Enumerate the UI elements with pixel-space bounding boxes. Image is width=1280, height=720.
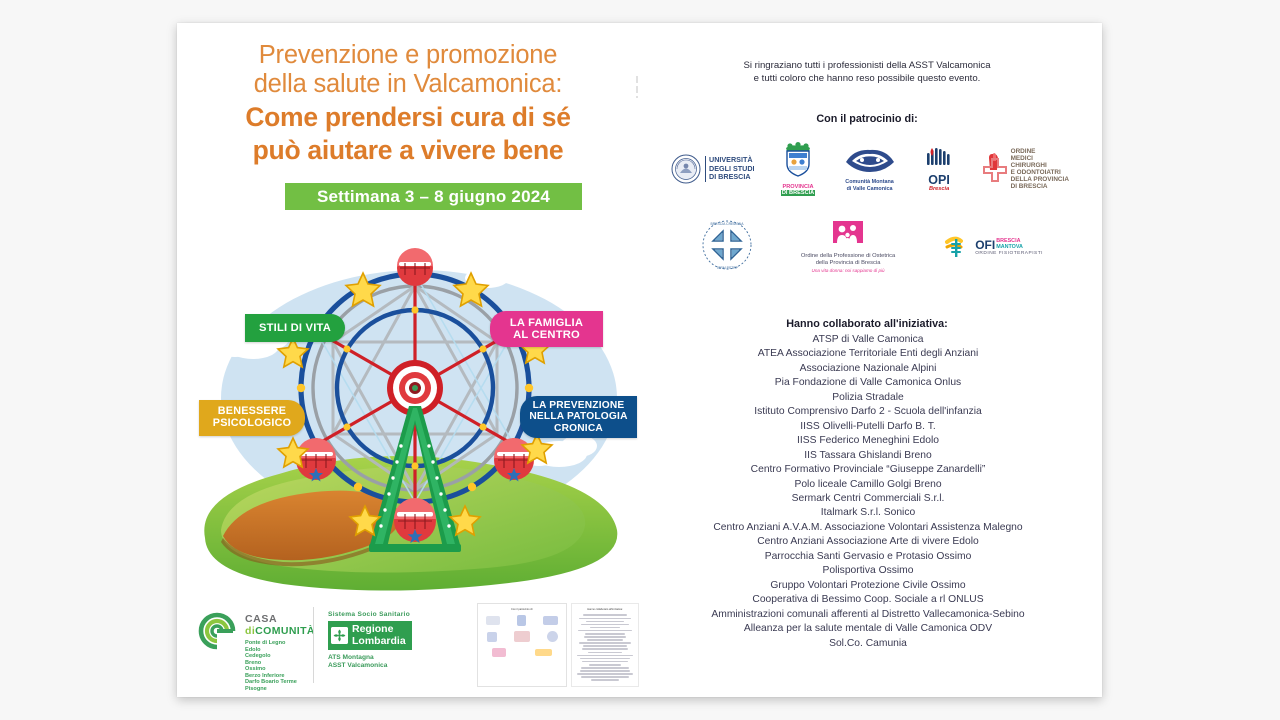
tsrm-circle-icon: BRESCIA CREMONA TSRM PSTRP xyxy=(701,219,753,271)
mini-logo-opi xyxy=(487,632,497,642)
ordine-medici-label: ORDINEMEDICICHIRURGHI E ODONTOIATRIDELLA… xyxy=(1011,148,1069,190)
list-item: Sol.Co. Camunia xyxy=(643,637,1093,651)
ofi-caduceus-icon xyxy=(943,234,973,260)
ordine-medici-cross-icon xyxy=(981,152,1009,186)
patrocinio-logos-row-2: BRESCIA CREMONA TSRM PSTRP Or xyxy=(677,213,1067,281)
title-bold-line-2: può aiutare a vivere bene xyxy=(203,135,613,165)
list-item: Centro Anziani A.V.A.M. Associazione Vol… xyxy=(643,521,1093,535)
collaborators-list: ATSP di Valle Camonica ATEA Associazione… xyxy=(643,333,1093,651)
patrocinio-logos-row-1: UNIVERSITÀDEGLI STUDIDI BRESCIA PR xyxy=(649,133,1091,205)
list-item: IISS Olivelli-Putelli Darfo B. T. xyxy=(643,420,1093,434)
collaborators-heading: Hanno collaborato all'iniziativa: xyxy=(657,318,1077,330)
lombardia-rose-icon xyxy=(331,627,348,644)
mini-logo-provincia xyxy=(517,615,526,626)
ferris-wheel-illustration: STILI DI VITA LA FAMIGLIA AL CENTRO BENE… xyxy=(187,238,637,598)
tag-benessere-psicologico: BENESSERE PSICOLOGICO xyxy=(199,400,305,436)
screenshot-canvas: Prevenzione e promozione della salute in… xyxy=(0,0,1280,720)
patrocinio-heading: Con il patrocinio di: xyxy=(667,113,1067,125)
provincia-label: PROVINCIA DI BRESCIA xyxy=(781,184,815,196)
mini-patrocinio-block: Con il patrocinio di: xyxy=(477,603,567,687)
mini-logo-tsrm xyxy=(547,631,558,642)
list-item: Gruppo Volontari Protezione Civile Ossim… xyxy=(643,579,1093,593)
title-line-1: Prevenzione e promozione xyxy=(203,41,613,70)
casa-di-comunita-logo: CASA diCOMUNITÀ Ponte di Legno Edolo Ced… xyxy=(195,609,315,692)
ofi-province-label: BRESCIAMANTOVA xyxy=(996,239,1023,250)
tag-line: STILI DI VITA xyxy=(259,322,331,334)
logo-ordine-ostetriche: Ordine della Professione di Ostetrica de… xyxy=(801,221,895,273)
list-item: Centro Formativo Provinciale “Giuseppe Z… xyxy=(643,463,1093,477)
list-item: Polizia Stradale xyxy=(643,391,1093,405)
ostetriche-family-icon xyxy=(831,221,865,247)
town-item: Pisogne xyxy=(245,686,315,693)
logo-comunita-montana: Comunità Montanadi Valle Camonica xyxy=(842,146,898,192)
list-item: Parrocchia Santi Gervasio e Protasio Oss… xyxy=(643,550,1093,564)
list-item: Polo liceale Camillo Golgi Breno xyxy=(643,478,1093,492)
tag-line: PSICOLOGICO xyxy=(213,418,291,430)
mini-collab-heading: Hanno collaborato all'iniziativa: xyxy=(572,608,638,611)
tag-line: NELLA PATOLOGIA xyxy=(529,411,627,422)
poster-title-block: Prevenzione e promozione della salute in… xyxy=(203,41,613,165)
poster-right-column: Si ringraziano tutti i professionisti de… xyxy=(637,23,1102,697)
mini-logo-comunita xyxy=(543,616,558,625)
list-item: Pia Fondazione di Valle Camonica Onlus xyxy=(643,376,1093,390)
mini-collaborators-block: Hanno collaborato all'iniziativa: xyxy=(571,603,639,687)
comunita-montana-label: Comunità Montanadi Valle Camonica xyxy=(842,179,898,192)
date-banner: Settimana 3 – 8 giugno 2024 xyxy=(285,183,582,210)
list-item: Italmark S.r.l. Sonico xyxy=(643,506,1093,520)
tag-line: AL CENTRO xyxy=(513,329,580,341)
comunita-montana-icon xyxy=(842,146,898,174)
ofi-text-block: OFI BRESCIAMANTOVA ORDINE FISIOTERAPISTI xyxy=(975,239,1043,256)
university-seal-icon xyxy=(671,154,701,184)
list-item: Associazione Nazionale Alpini xyxy=(643,362,1093,376)
provincia-crest-icon xyxy=(781,142,815,178)
list-item: IISS Federico Meneghini Edolo xyxy=(643,434,1093,448)
svg-text:TSRM PSTRP: TSRM PSTRP xyxy=(716,266,739,270)
logo-opi-brescia: OPI Brescia xyxy=(924,147,954,192)
list-item: Cooperativa di Bessimo Coop. Sociale a r… xyxy=(643,593,1093,607)
regione-lombardia-name: Regione Lombardia xyxy=(352,624,406,647)
logo-ofi-brescia-mantova: OFI BRESCIAMANTOVA ORDINE FISIOTERAPISTI xyxy=(943,234,1043,260)
logo-provincia-brescia: PROVINCIA DI BRESCIA xyxy=(781,142,815,196)
ofi-label: OFI xyxy=(975,239,995,251)
casa-comunita-c-icon xyxy=(195,609,239,653)
regione-lombardia-badge: Regione Lombardia xyxy=(328,621,412,650)
logo-ordine-medici: ORDINEMEDICICHIRURGHI E ODONTOIATRIDELLA… xyxy=(981,148,1069,190)
mini-logo-unibs xyxy=(486,616,500,625)
ostetriche-label: Ordine della Professione di Ostetrica de… xyxy=(801,253,895,267)
list-item: Centro Anziani Associazione Arte di vive… xyxy=(643,535,1093,549)
list-item: Istituto Comprensivo Darfo 2 - Scuola de… xyxy=(643,405,1093,419)
tag-la-prevenzione-patologia-cronica: LA PREVENZIONE NELLA PATOLOGIA CRONICA xyxy=(520,396,637,438)
tag-la-famiglia-al-centro: LA FAMIGLIA AL CENTRO xyxy=(490,311,603,347)
sistema-socio-sanitario-label: Sistema Socio Sanitario xyxy=(328,611,412,618)
di-comunita-label: diCOMUNITÀ xyxy=(245,625,315,637)
list-item: Alleanza per la salute mentale di Valle … xyxy=(643,622,1093,636)
title-bold-line-1: Come prendersi cura di sé xyxy=(203,102,613,132)
mini-patrocinio-heading: Con il patrocinio di: xyxy=(478,608,566,611)
list-item: Polisportiva Ossimo xyxy=(643,564,1093,578)
list-item: ATSP di Valle Camonica xyxy=(643,333,1093,347)
mini-logo-ofi xyxy=(535,649,552,656)
footer-divider xyxy=(313,607,314,683)
list-item: Amministrazioni comunali afferenti al Di… xyxy=(643,608,1093,622)
thanks-text: Si ringraziano tutti i professionisti de… xyxy=(667,60,1067,85)
mini-collab-lines xyxy=(572,614,638,681)
footer-logo-strip: CASA diCOMUNITÀ Ponte di Legno Edolo Ced… xyxy=(195,601,637,691)
universita-label: UNIVERSITÀDEGLI STUDIDI BRESCIA xyxy=(705,156,755,181)
casa-comunita-town-list: Ponte di Legno Edolo Cedegolo Breno Ossi… xyxy=(245,640,315,692)
gondola-top xyxy=(397,248,433,286)
logo-universita-brescia: UNIVERSITÀDEGLI STUDIDI BRESCIA xyxy=(671,154,755,184)
ofi-sub-label: ORDINE FISIOTERAPISTI xyxy=(975,251,1043,256)
tag-line: CRONICA xyxy=(554,423,603,434)
logo-tsrm-pstrp: BRESCIA CREMONA TSRM PSTRP xyxy=(701,219,753,276)
svg-text:BRESCIA CREMONA: BRESCIA CREMONA xyxy=(710,222,744,226)
mini-logo-ostetriche xyxy=(492,648,506,657)
tag-line: LA PREVENZIONE xyxy=(533,400,625,411)
list-item: Sermark Centri Commerciali S.r.l. xyxy=(643,492,1093,506)
opi-label: OPI xyxy=(924,174,954,186)
ostetriche-tagline: Una vita donna: noi sappiamo di più xyxy=(801,268,895,273)
ats-asst-label: ATS Montagna ASST Valcamonica xyxy=(328,654,412,670)
thanks-line-1: Si ringraziano tutti i professionisti de… xyxy=(667,60,1067,73)
regione-lombardia-logo: Sistema Socio Sanitario xyxy=(328,611,412,670)
tag-line: LA FAMIGLIA xyxy=(510,317,583,329)
thanks-line-2: e tutti coloro che hanno reso possibile … xyxy=(667,73,1067,86)
casa-label: CASA xyxy=(245,613,315,625)
list-item: ATEA Associazione Territoriale Enti degl… xyxy=(643,347,1093,361)
list-item: IIS Tassara Ghislandi Breno xyxy=(643,449,1093,463)
column-divider-mark xyxy=(636,76,638,98)
opi-hands-icon xyxy=(924,147,954,169)
poster-left-column: Prevenzione e promozione della salute in… xyxy=(177,23,637,697)
tag-stili-di-vita: STILI DI VITA xyxy=(245,314,345,342)
title-line-2: della salute in Valcamonica: xyxy=(203,70,613,99)
mini-logo-ordine-medici xyxy=(514,631,530,642)
poster-page: Prevenzione e promozione della salute in… xyxy=(177,23,1102,697)
